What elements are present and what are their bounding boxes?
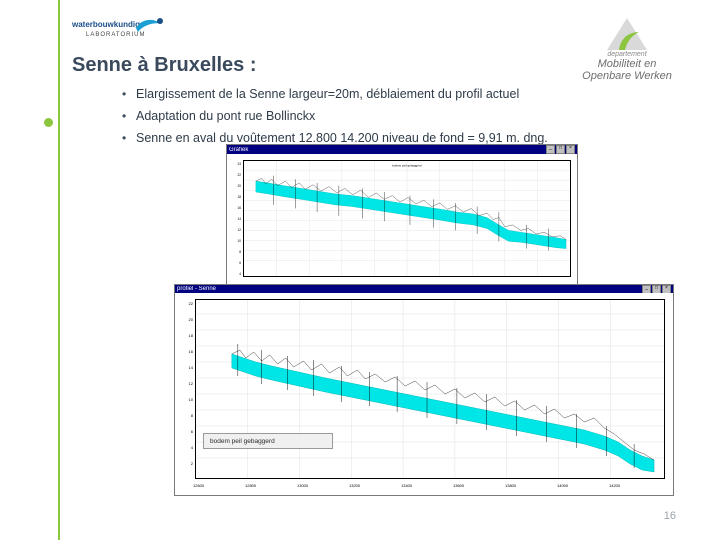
plot-area-bottom	[195, 299, 665, 479]
triangle-swoosh-icon	[567, 16, 687, 52]
x-tick: 13800	[505, 483, 516, 488]
chart-window-top[interactable]: Grafiek _ □ ×	[226, 144, 578, 292]
window-body-top: bodem peil gebaggerd 24 22 20 18 16 14 1…	[227, 154, 577, 291]
svg-text:bodem peil gebaggerd: bodem peil gebaggerd	[392, 164, 422, 168]
y-tick: 4	[175, 445, 193, 450]
window-title-text: Grafiek	[229, 147, 546, 153]
y-tick: 10	[227, 239, 241, 243]
y-tick: 22	[227, 173, 241, 177]
waterbouwkundig-laboratorium-logo: waterbouwkundig LABORATORIUM	[72, 18, 172, 50]
window-titlebar-bottom[interactable]: profiel - Senne _ □ ×	[175, 285, 673, 293]
y-tick: 8	[175, 413, 193, 418]
y-tick: 20	[227, 184, 241, 188]
x-tick: 13400	[401, 483, 412, 488]
window-buttons[interactable]: _ □ ×	[546, 145, 575, 154]
legend-label: bodem peil gebaggerd	[210, 438, 275, 445]
y-tick: 6	[227, 261, 241, 265]
x-tick: 14000	[557, 483, 568, 488]
window-titlebar-top[interactable]: Grafiek _ □ ×	[227, 145, 577, 154]
page-number: 16	[664, 510, 676, 522]
y-tick: 12	[227, 228, 241, 232]
y-tick: 2	[175, 461, 193, 466]
logo-right-mark	[562, 16, 692, 50]
x-tick: 12800	[245, 483, 256, 488]
wave-icon	[134, 16, 166, 36]
y-tick: 4	[227, 272, 241, 276]
bullet-text: Elargissement de la Senne largeur=20m, d…	[136, 86, 519, 102]
x-tick: 14200	[609, 483, 620, 488]
y-tick: 20	[175, 317, 193, 322]
logo-right-line2: Openbare Werken	[562, 70, 692, 82]
left-accent-dot	[44, 118, 53, 127]
plot-area-top: bodem peil gebaggerd	[243, 160, 571, 277]
bullet-list: • Elargissement de la Senne largeur=20m,…	[122, 86, 642, 152]
minimize-icon[interactable]: _	[546, 145, 555, 154]
bullet-marker-icon: •	[122, 108, 136, 124]
x-tick: 13200	[349, 483, 360, 488]
y-tick: 14	[227, 217, 241, 221]
x-tick: 13600	[453, 483, 464, 488]
window-title-text: profiel - Senne	[177, 286, 642, 292]
y-tick: 18	[175, 333, 193, 338]
logo-right-departement: departement	[562, 51, 692, 58]
logo-left-line1: waterbouwkundig	[72, 20, 140, 29]
chart-plot-svg-top: bodem peil gebaggerd	[244, 161, 570, 276]
page-title: Senne à Bruxelles :	[72, 54, 257, 77]
x-tick: 12600	[193, 483, 204, 488]
x-tick: 13000	[297, 483, 308, 488]
y-tick: 6	[175, 429, 193, 434]
bullet-marker-icon: •	[122, 86, 136, 102]
list-item: • Elargissement de la Senne largeur=20m,…	[122, 86, 642, 102]
bullet-marker-icon: •	[122, 130, 136, 146]
y-tick: 12	[175, 381, 193, 386]
logo-right-line1: Mobiliteit en	[562, 58, 692, 70]
y-tick: 8	[227, 250, 241, 254]
y-tick: 22	[175, 301, 193, 306]
y-tick: 24	[227, 162, 241, 166]
departement-mobiliteit-openbare-werken-logo: departement Mobiliteit en Openbare Werke…	[562, 16, 692, 86]
y-tick: 16	[175, 349, 193, 354]
left-accent-rule	[58, 0, 60, 540]
list-item: • Adaptation du pont rue Bollinckx	[122, 108, 642, 124]
y-tick: 14	[175, 365, 193, 370]
chart-plot-svg-bottom	[196, 300, 664, 478]
chart-window-bottom[interactable]: profiel - Senne _ □ ×	[174, 284, 674, 496]
window-body-bottom: 22 20 18 16 14 12 10 8 6 4 2 12600 12800…	[175, 293, 673, 495]
maximize-icon[interactable]: □	[556, 145, 565, 154]
chart-legend: bodem peil gebaggerd	[203, 433, 333, 449]
y-tick: 10	[175, 397, 193, 402]
bullet-text: Adaptation du pont rue Bollinckx	[136, 108, 315, 124]
close-icon[interactable]: ×	[566, 145, 575, 154]
y-tick: 16	[227, 206, 241, 210]
y-tick: 18	[227, 195, 241, 199]
